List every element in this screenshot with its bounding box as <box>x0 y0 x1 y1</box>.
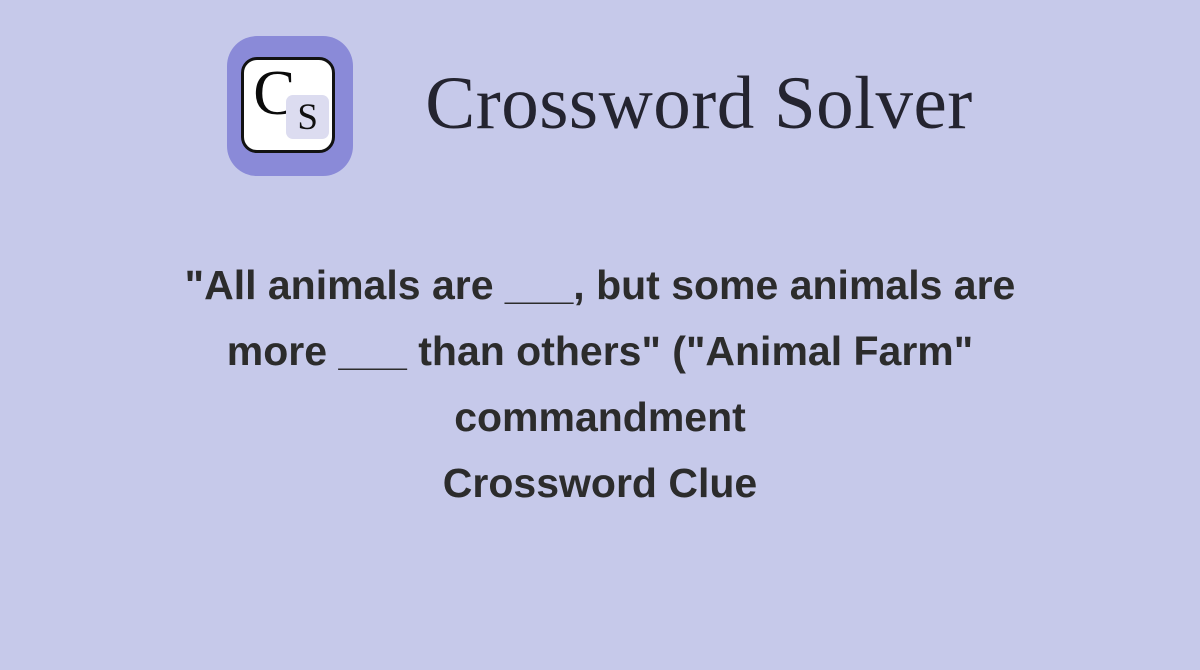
site-title[interactable]: Crossword Solver <box>425 66 973 147</box>
crossword-solver-logo-icon[interactable]: C S <box>227 36 353 176</box>
logo-card: C S <box>241 57 335 153</box>
page-root: C S Crossword Solver "All animals are __… <box>0 0 1200 670</box>
logo-letter-tile: S <box>286 95 329 139</box>
clue-heading-line-3: commandment <box>85 384 1115 450</box>
clue-heading-line-1: "All animals are ___, but some animals a… <box>85 252 1115 318</box>
clue-heading-line-4: Crossword Clue <box>85 450 1115 516</box>
clue-heading: "All animals are ___, but some animals a… <box>85 252 1115 516</box>
site-brand[interactable]: C S Crossword Solver <box>0 36 1200 176</box>
logo-letter-s: S <box>286 95 329 139</box>
clue-heading-line-2: more ___ than others" ("Animal Farm" <box>85 318 1115 384</box>
